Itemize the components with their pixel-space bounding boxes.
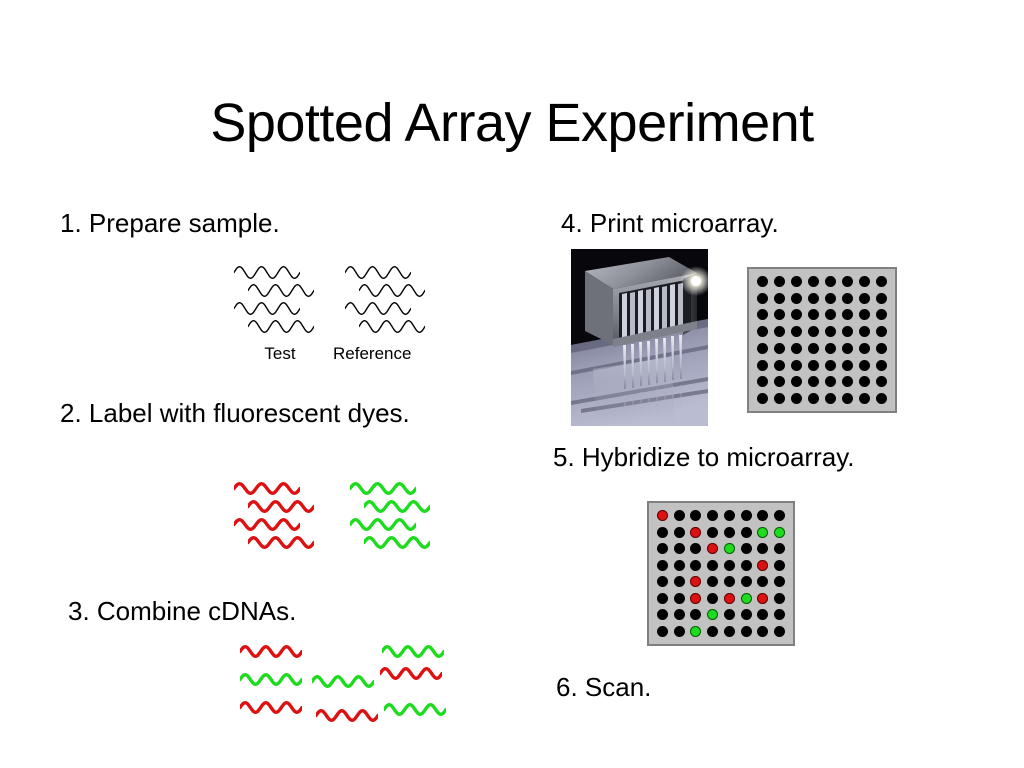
hybridized-array-spot-r2c4 [707, 527, 718, 538]
hybridized-array-spot-r7c2 [674, 609, 685, 620]
hybridized-array-spot-r6c1 [657, 593, 668, 604]
test-strand-2 [248, 284, 314, 302]
hybridized-array-spot-r6c4 [707, 593, 718, 604]
printed-array-spot-r5c7 [859, 343, 870, 354]
step-6-heading: 6. Scan. [556, 672, 651, 702]
hybridized-array-spot-r2c7 [757, 527, 768, 538]
test-red-strand-2 [248, 500, 314, 518]
hybridized-array-spot-r3c6 [741, 543, 752, 554]
printed-array-spot-r8c5 [825, 393, 836, 404]
hybridized-array-spot-r8c7 [757, 626, 768, 637]
printed-array-spot-r5c1 [757, 343, 768, 354]
test-red-strand-1 [234, 482, 300, 500]
printed-array-spot-r3c7 [859, 309, 870, 320]
printed-array-spot-r3c4 [808, 309, 819, 320]
hybridized-array-spot-r4c4 [707, 560, 718, 571]
hybridized-array-spot-r1c1 [657, 510, 668, 521]
printed-array-spot-r2c5 [825, 293, 836, 304]
page-title: Spotted Array Experiment [0, 92, 1024, 154]
printed-array-spot-r8c2 [774, 393, 785, 404]
printed-array-spot-r6c5 [825, 360, 836, 371]
printed-array-spot-r7c2 [774, 376, 785, 387]
hybridized-array-spot-r7c5 [724, 609, 735, 620]
hybridized-array-spot-r4c1 [657, 560, 668, 571]
hybridized-array-spot-r7c4 [707, 609, 718, 620]
hybridized-array-spot-r2c8 [774, 527, 785, 538]
printed-array-spot-r7c3 [791, 376, 802, 387]
hybridized-array-spot-r8c1 [657, 626, 668, 637]
printed-array-spot-r6c3 [791, 360, 802, 371]
step-2-heading: 2. Label with fluorescent dyes. [60, 398, 410, 428]
hybridized-array-grid [649, 503, 793, 644]
combined-strand-3 [240, 673, 302, 691]
printed-array-spot-r2c3 [791, 293, 802, 304]
printed-array-spot-r8c1 [757, 393, 768, 404]
printed-array-spot-r4c5 [825, 326, 836, 337]
slide-spotted-array-experiment: { "slide": { "title": "Spotted Array Exp… [0, 0, 1024, 768]
reference-green-strand-3 [350, 518, 416, 536]
printed-array-spot-r2c6 [842, 293, 853, 304]
hybridized-array-spot-r3c4 [707, 543, 718, 554]
hybridized-array-spot-r6c3 [690, 593, 701, 604]
reference-green-strand-1 [350, 482, 416, 500]
hybridized-array-spot-r6c6 [741, 593, 752, 604]
hybridized-array-spot-r4c3 [690, 560, 701, 571]
hybridized-array-spot-r1c4 [707, 510, 718, 521]
printed-array-spot-r1c1 [757, 276, 768, 287]
hybridized-array-spot-r7c8 [774, 609, 785, 620]
hybridized-array-spot-r5c3 [690, 576, 701, 587]
hybridized-microarray-chip [647, 501, 795, 646]
hybridized-array-spot-r1c6 [741, 510, 752, 521]
printed-array-spot-r8c7 [859, 393, 870, 404]
printed-array-spot-r8c3 [791, 393, 802, 404]
printed-array-spot-r5c6 [842, 343, 853, 354]
test-red-strand-3 [234, 518, 300, 536]
step-3-heading: 3. Combine cDNAs. [68, 596, 296, 626]
printed-array-spot-r7c8 [876, 376, 887, 387]
hybridized-array-spot-r6c5 [724, 593, 735, 604]
printed-array-spot-r4c7 [859, 326, 870, 337]
hybridized-array-spot-r2c1 [657, 527, 668, 538]
hybridized-array-spot-r6c7 [757, 593, 768, 604]
printed-array-spot-r3c6 [842, 309, 853, 320]
reference-strand-4 [359, 320, 425, 338]
printed-array-spot-r7c1 [757, 376, 768, 387]
combined-strand-7 [316, 709, 378, 727]
printed-array-spot-r5c2 [774, 343, 785, 354]
hybridized-array-spot-r2c3 [690, 527, 701, 538]
hybridized-array-spot-r2c2 [674, 527, 685, 538]
hybridized-array-spot-r3c8 [774, 543, 785, 554]
printed-array-spot-r3c8 [876, 309, 887, 320]
hybridized-array-spot-r6c2 [674, 593, 685, 604]
hybridized-array-spot-r3c2 [674, 543, 685, 554]
hybridized-array-spot-r2c6 [741, 527, 752, 538]
printed-array-spot-r1c2 [774, 276, 785, 287]
printed-array-spot-r2c8 [876, 293, 887, 304]
printed-array-spot-r4c2 [774, 326, 785, 337]
hybridized-array-spot-r8c6 [741, 626, 752, 637]
printed-array-spot-r3c2 [774, 309, 785, 320]
printed-array-spot-r5c8 [876, 343, 887, 354]
printed-array-spot-r2c2 [774, 293, 785, 304]
hybridized-array-spot-r1c2 [674, 510, 685, 521]
hybridized-array-spot-r3c3 [690, 543, 701, 554]
printed-array-spot-r7c6 [842, 376, 853, 387]
hybridized-array-spot-r3c7 [757, 543, 768, 554]
printed-array-spot-r1c7 [859, 276, 870, 287]
printed-array-spot-r8c4 [808, 393, 819, 404]
hybridized-array-spot-r4c2 [674, 560, 685, 571]
test-strand-3 [234, 302, 300, 320]
printed-array-spot-r5c5 [825, 343, 836, 354]
printed-array-spot-r7c7 [859, 376, 870, 387]
arrayer-printhead-illustration [571, 249, 708, 426]
combined-strand-1 [240, 645, 302, 663]
test-sample-strands [234, 266, 326, 336]
test-strand-1 [234, 266, 300, 284]
printed-array-spot-r4c1 [757, 326, 768, 337]
hybridized-array-spot-r8c2 [674, 626, 685, 637]
hybridized-array-spot-r8c8 [774, 626, 785, 637]
printed-array-spot-r4c6 [842, 326, 853, 337]
hybridized-array-spot-r4c8 [774, 560, 785, 571]
reference-labeled-strands-green [350, 482, 442, 556]
hybridized-array-spot-r5c2 [674, 576, 685, 587]
printed-array-spot-r1c8 [876, 276, 887, 287]
combined-strand-5 [380, 667, 442, 685]
printed-array-spot-r7c5 [825, 376, 836, 387]
reference-strand-1 [345, 266, 411, 284]
combined-strand-4 [312, 675, 374, 693]
hybridized-array-spot-r5c8 [774, 576, 785, 587]
printed-array-spot-r4c4 [808, 326, 819, 337]
combined-strand-6 [240, 701, 302, 719]
hybridized-array-spot-r8c4 [707, 626, 718, 637]
printed-array-spot-r5c4 [808, 343, 819, 354]
test-strands-caption: Test [234, 344, 326, 364]
combined-strand-8 [384, 703, 446, 721]
combined-strand-2 [382, 645, 444, 663]
test-strand-4 [248, 320, 314, 338]
reference-sample-strands [345, 266, 437, 336]
printed-array-spot-r6c7 [859, 360, 870, 371]
printed-array-spot-r6c4 [808, 360, 819, 371]
hybridized-array-spot-r5c4 [707, 576, 718, 587]
hybridized-array-spot-r7c1 [657, 609, 668, 620]
printed-array-spot-r6c8 [876, 360, 887, 371]
hybridized-array-spot-r4c5 [724, 560, 735, 571]
printed-microarray-chip [747, 267, 897, 413]
hybridized-array-spot-r7c6 [741, 609, 752, 620]
printed-array-spot-r2c7 [859, 293, 870, 304]
printed-array-spot-r2c1 [757, 293, 768, 304]
reference-strands-caption: Reference [333, 344, 453, 364]
reference-strand-3 [345, 302, 411, 320]
printed-array-spot-r6c2 [774, 360, 785, 371]
hybridized-array-spot-r8c3 [690, 626, 701, 637]
printed-array-spot-r6c1 [757, 360, 768, 371]
step-4-heading: 4. Print microarray. [561, 208, 779, 238]
printed-array-spot-r3c3 [791, 309, 802, 320]
hybridized-array-spot-r5c5 [724, 576, 735, 587]
hybridized-array-spot-r1c8 [774, 510, 785, 521]
printed-array-spot-r2c4 [808, 293, 819, 304]
hybridized-array-spot-r2c5 [724, 527, 735, 538]
step-1-heading: 1. Prepare sample. [60, 208, 280, 238]
printed-array-spot-r5c3 [791, 343, 802, 354]
hybridized-array-spot-r8c5 [724, 626, 735, 637]
printed-array-spot-r4c8 [876, 326, 887, 337]
printed-array-spot-r3c5 [825, 309, 836, 320]
hybridized-array-spot-r5c7 [757, 576, 768, 587]
printed-array-grid [749, 269, 895, 411]
hybridized-array-spot-r7c7 [757, 609, 768, 620]
printed-array-spot-r3c1 [757, 309, 768, 320]
printed-array-spot-r8c8 [876, 393, 887, 404]
reference-strand-2 [359, 284, 425, 302]
test-labeled-strands-red [234, 482, 326, 556]
hybridized-array-spot-r5c1 [657, 576, 668, 587]
printed-array-spot-r8c6 [842, 393, 853, 404]
reference-green-strand-2 [364, 500, 430, 518]
printed-array-spot-r1c3 [791, 276, 802, 287]
hybridized-array-spot-r7c3 [690, 609, 701, 620]
printed-array-spot-r1c5 [825, 276, 836, 287]
hybridized-array-spot-r4c6 [741, 560, 752, 571]
printed-array-spot-r4c3 [791, 326, 802, 337]
hybridized-array-spot-r3c1 [657, 543, 668, 554]
hybridized-array-spot-r1c5 [724, 510, 735, 521]
combined-cdna-strands [240, 645, 440, 727]
hybridized-array-spot-r3c5 [724, 543, 735, 554]
arrayer-printhead-photo [571, 249, 708, 426]
printed-array-spot-r7c4 [808, 376, 819, 387]
test-red-strand-4 [248, 536, 314, 554]
hybridized-array-spot-r4c7 [757, 560, 768, 571]
reference-green-strand-4 [364, 536, 430, 554]
hybridized-array-spot-r5c6 [741, 576, 752, 587]
printed-array-spot-r6c6 [842, 360, 853, 371]
printed-array-spot-r1c6 [842, 276, 853, 287]
step-5-heading: 5. Hybridize to microarray. [553, 442, 855, 472]
hybridized-array-spot-r1c3 [690, 510, 701, 521]
hybridized-array-spot-r1c7 [757, 510, 768, 521]
printed-array-spot-r1c4 [808, 276, 819, 287]
hybridized-array-spot-r6c8 [774, 593, 785, 604]
